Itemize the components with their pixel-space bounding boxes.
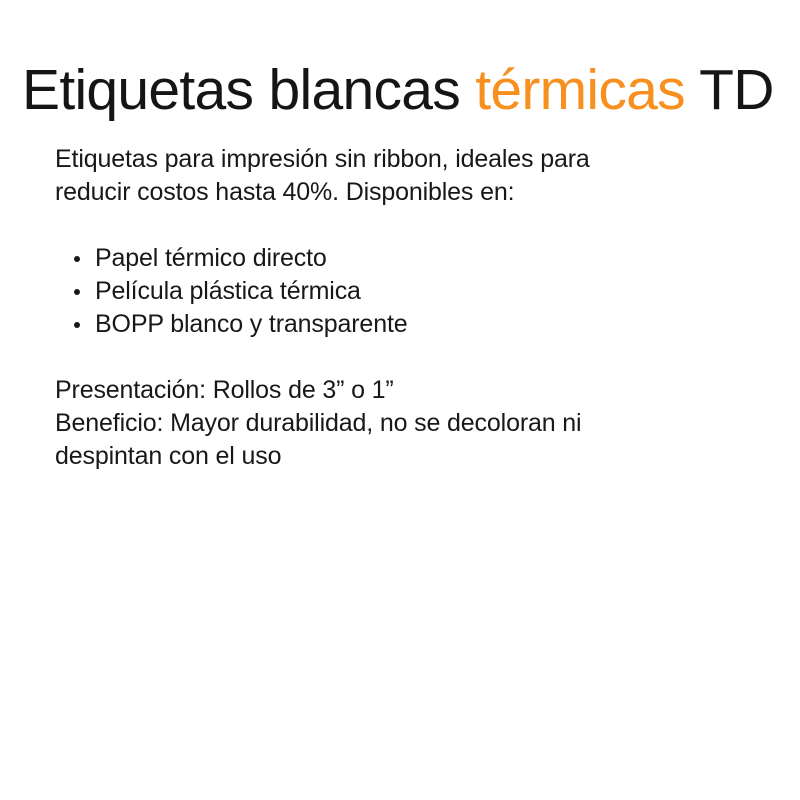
slide-root: Etiquetas blancas térmicas TD Etiquetas …	[0, 0, 800, 800]
list-item-label: Papel térmico directo	[95, 244, 327, 272]
list-item-label: BOPP blanco y transparente	[95, 310, 408, 338]
page-title: Etiquetas blancas térmicas TD	[22, 54, 782, 126]
materials-bullet-list: Papel térmico directo Película plástica …	[55, 242, 755, 341]
list-item: Película plástica térmica	[55, 275, 755, 308]
presentation-line: Presentación: Rollos de 3” o 1”	[55, 374, 755, 407]
intro-paragraph: Etiquetas para impresión sin ribbon, ide…	[55, 143, 665, 209]
page-title-part-1: Etiquetas blancas	[22, 58, 475, 122]
benefit-line-part-1: Beneficio: Mayor durabilidad, no se deco…	[55, 407, 755, 440]
benefit-line: Beneficio: Mayor durabilidad, no se deco…	[55, 407, 755, 473]
benefit-line-part-2: despintan con el uso	[55, 440, 755, 473]
intro-line-1: Etiquetas para impresión sin ribbon, ide…	[55, 143, 665, 176]
list-item-label: Película plástica térmica	[95, 277, 361, 305]
intro-line-2: reducir costos hasta 40%. Disponibles en…	[55, 176, 665, 209]
bullet-dot-icon	[74, 322, 80, 328]
details-block: Presentación: Rollos de 3” o 1” Benefici…	[55, 374, 755, 473]
list-item: Papel térmico directo	[55, 242, 755, 275]
body-content: Etiquetas para impresión sin ribbon, ide…	[55, 143, 755, 407]
list-item: BOPP blanco y transparente	[55, 308, 755, 341]
page-title-accent-word: térmicas	[475, 58, 685, 122]
page-title-part-2: TD	[685, 58, 774, 122]
bullet-dot-icon	[74, 289, 80, 295]
bullet-dot-icon	[74, 256, 80, 262]
